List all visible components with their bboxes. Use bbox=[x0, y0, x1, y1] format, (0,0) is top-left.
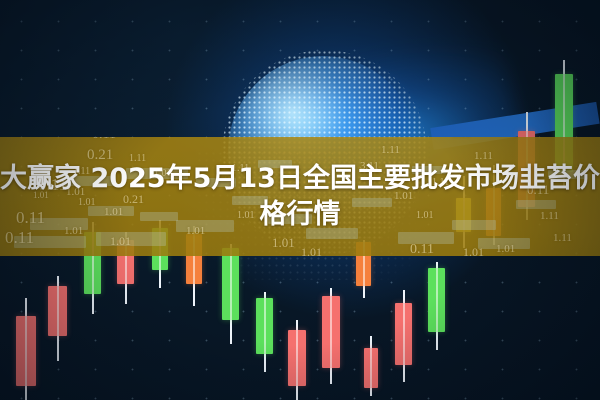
candle-body bbox=[322, 296, 340, 368]
banner-image: 0.111.011.010.110.111.011.011.111.010.21… bbox=[0, 0, 600, 400]
title-line-2: 格行情 bbox=[260, 198, 341, 232]
candle-body bbox=[395, 303, 412, 365]
candle-body bbox=[364, 348, 378, 388]
title-block: 大赢家 2025年5月13日全国主要批发市场韭苔价 格行情 bbox=[0, 137, 600, 256]
candle-body bbox=[48, 286, 67, 336]
candle-body bbox=[16, 316, 36, 386]
candle-body bbox=[256, 298, 273, 354]
candle-body bbox=[288, 330, 306, 386]
candle-body bbox=[428, 268, 445, 332]
candle-body bbox=[222, 248, 239, 320]
title-line-1: 大赢家 2025年5月13日全国主要批发市场韭苔价 bbox=[0, 162, 600, 196]
